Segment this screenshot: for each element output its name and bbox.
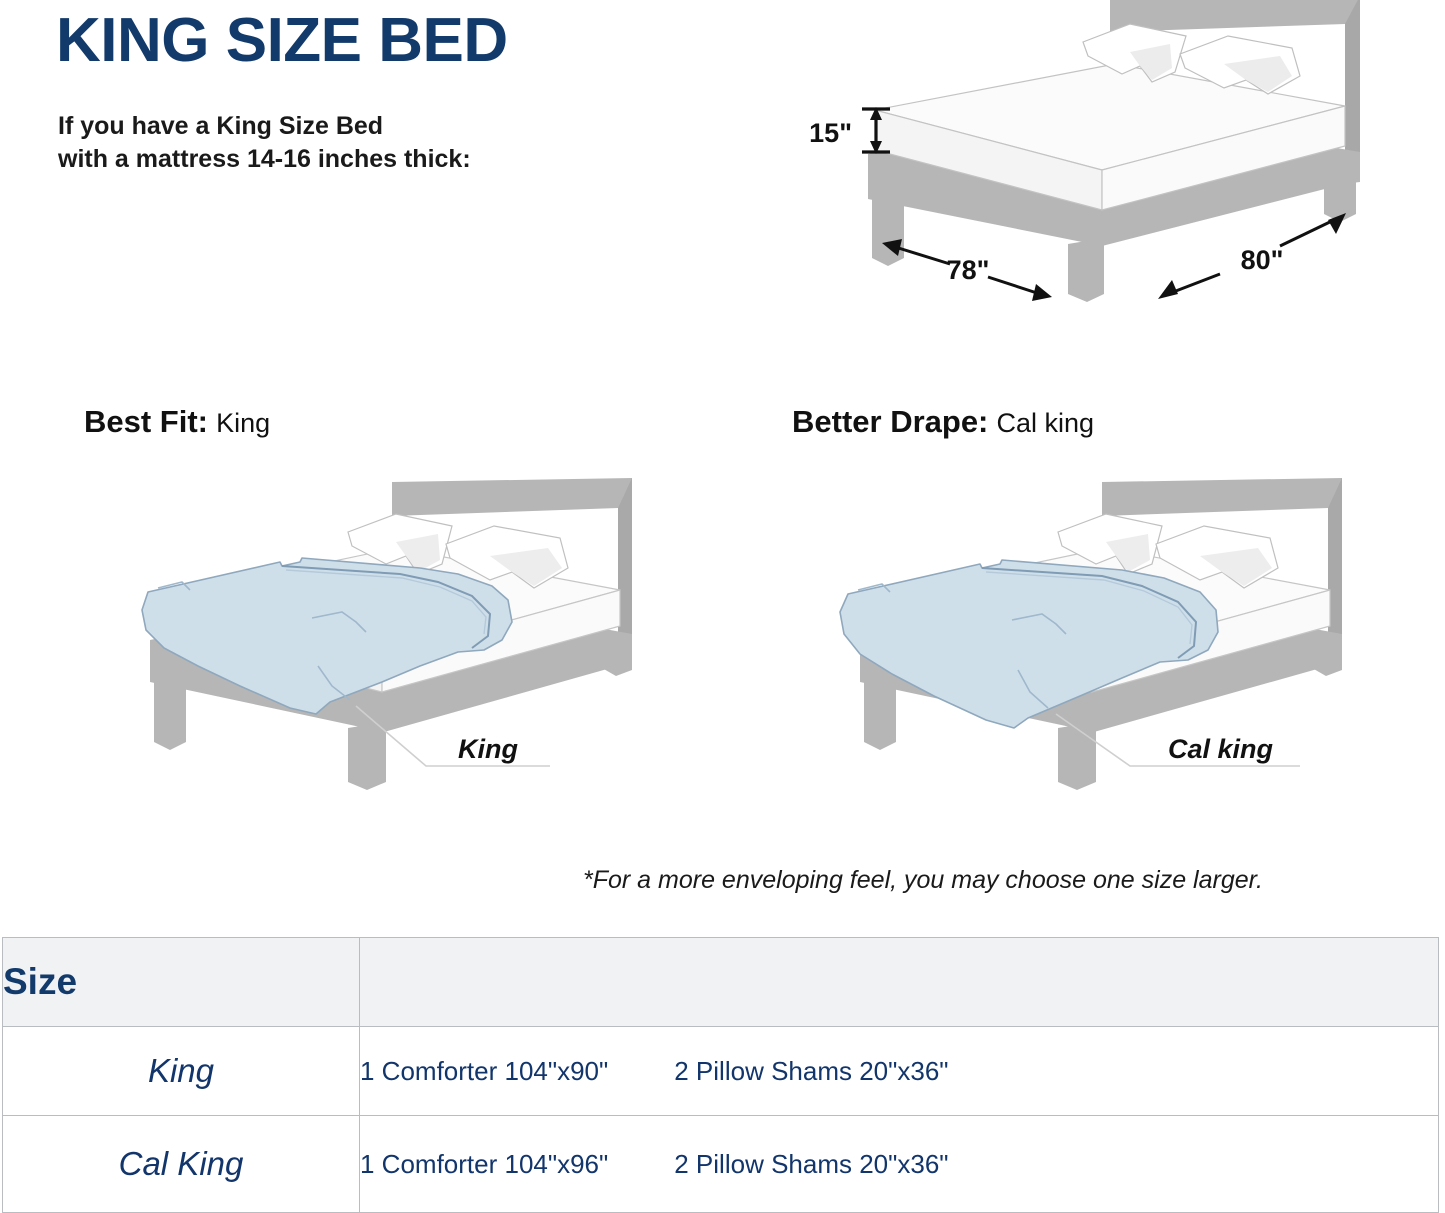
better-drape-label: Better Drape: — [792, 404, 988, 439]
leg-front-left — [864, 676, 896, 750]
page-title: KING SIZE BED — [56, 8, 508, 73]
leg-front-right — [1058, 722, 1096, 790]
leg-back-right — [1324, 168, 1356, 222]
row-items-king: 1 Comforter 104"x90" 2 Pillow Shams 20"x… — [360, 1027, 1439, 1116]
leg-front-right — [348, 722, 386, 790]
row-items-cal-king: 1 Comforter 104"x96" 2 Pillow Shams 20"x… — [360, 1116, 1439, 1213]
size-chart-table: Size King 1 Comforter 104"x90" 2 Pillow … — [2, 937, 1439, 1213]
table-header-size: Size — [3, 938, 360, 1027]
width-label: 78" — [947, 255, 990, 285]
king-comforter-svg: King — [120, 470, 680, 800]
callout-king-label: King — [458, 734, 518, 764]
table-row: Cal King 1 Comforter 104"x96" 2 Pillow S… — [3, 1116, 1439, 1213]
page-subtitle: If you have a King Size Bed with a mattr… — [58, 110, 471, 176]
shams-spec-cal-king: 2 Pillow Shams 20"x36" — [674, 1149, 948, 1180]
king-bed-dimension-diagram: 15" 78" 80" — [800, 0, 1445, 339]
leg-front-left — [154, 676, 186, 750]
comforter-spec-cal-king: 1 Comforter 104"x96" — [360, 1149, 608, 1180]
shams-spec-king: 2 Pillow Shams 20"x36" — [674, 1056, 948, 1087]
height-label: 15" — [809, 118, 852, 148]
headboard-face — [618, 478, 632, 654]
depth-arrow-left — [1158, 280, 1178, 299]
bed-with-cal-king-comforter-diagram: Cal king — [830, 470, 1390, 800]
headboard-face — [1345, 0, 1360, 176]
bed-with-king-comforter-diagram: King — [120, 470, 680, 800]
leg-front-left — [872, 194, 904, 266]
leg-front-right — [1068, 238, 1104, 302]
bed-dimensions-svg: 15" 78" 80" — [800, 0, 1445, 339]
best-fit-heading: Best Fit: King — [84, 404, 270, 440]
table-header-items — [360, 938, 1439, 1027]
callout-cal-king-label: Cal king — [1168, 734, 1274, 764]
table-row: King 1 Comforter 104"x90" 2 Pillow Shams… — [3, 1027, 1439, 1116]
footnote-text: *For a more enveloping feel, you may cho… — [583, 866, 1263, 895]
cal-king-comforter-svg: Cal king — [830, 470, 1390, 800]
comforter-spec-king: 1 Comforter 104"x90" — [360, 1056, 608, 1087]
headboard-face — [1328, 478, 1342, 654]
better-drape-value: Cal king — [996, 408, 1094, 438]
table-header-row: Size — [3, 938, 1439, 1027]
best-fit-label: Best Fit: — [84, 404, 208, 439]
width-arrow-right — [1032, 284, 1052, 301]
row-size-cal-king: Cal King — [3, 1116, 360, 1213]
row-size-king: King — [3, 1027, 360, 1116]
depth-label: 80" — [1241, 245, 1284, 275]
better-drape-heading: Better Drape: Cal king — [792, 404, 1094, 440]
best-fit-value: King — [216, 408, 270, 438]
